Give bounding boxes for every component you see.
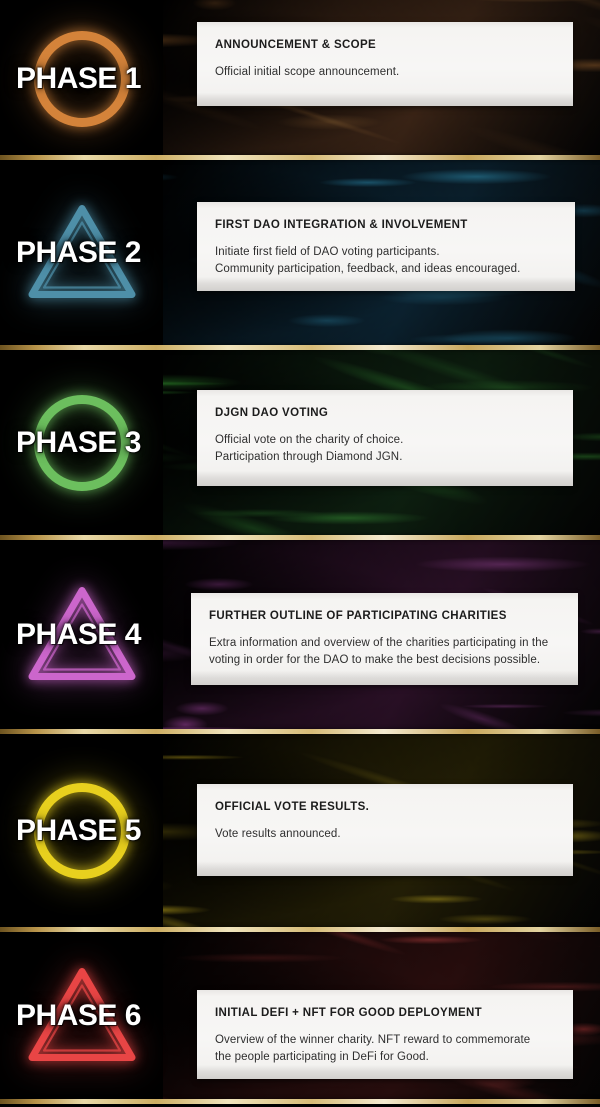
- phase-card-body: Official initial scope announcement.: [215, 64, 555, 81]
- phase-card[interactable]: INITIAL DEFI + NFT FOR GOOD DEPLOYMENTOv…: [197, 990, 573, 1079]
- phase-row[interactable]: PHASE 6INITIAL DEFI + NFT FOR GOOD DEPLO…: [0, 930, 600, 1102]
- phase-card-title: OFFICIAL VOTE RESULTS.: [215, 800, 555, 815]
- phase-card[interactable]: FIRST DAO INTEGRATION & INVOLVEMENTIniti…: [197, 202, 575, 291]
- phase-card-body: Initiate first field of DAO voting parti…: [215, 244, 557, 277]
- phase-label: PHASE 4: [16, 618, 141, 652]
- phase-card[interactable]: DJGN DAO VOTINGOfficial vote on the char…: [197, 390, 573, 486]
- phase-row[interactable]: PHASE 2FIRST DAO INTEGRATION & INVOLVEME…: [0, 158, 600, 348]
- phase-card-body-line: Community participation, feedback, and i…: [215, 261, 557, 278]
- gold-divider: [0, 345, 600, 350]
- phase-row[interactable]: PHASE 4FURTHER OUTLINE OF PARTICIPATING …: [0, 538, 600, 732]
- phase-left-panel: PHASE 4: [0, 538, 163, 732]
- gold-divider: [0, 927, 600, 932]
- gold-divider: [0, 729, 600, 734]
- phase-row[interactable]: PHASE 1ANNOUNCEMENT & SCOPEOfficial init…: [0, 0, 600, 158]
- phase-card-body-line: Extra information and overview of the ch…: [209, 635, 560, 652]
- phase-row[interactable]: PHASE 3DJGN DAO VOTINGOfficial vote on t…: [0, 348, 600, 538]
- phase-left-panel: PHASE 1: [0, 0, 163, 158]
- phase-card-body: Overview of the winner charity. NFT rewa…: [215, 1032, 555, 1065]
- gold-divider: [0, 535, 600, 540]
- phase-card-body-line: the people participating in DeFi for Goo…: [215, 1049, 555, 1066]
- phase-label: PHASE 6: [16, 999, 141, 1033]
- phase-card[interactable]: FURTHER OUTLINE OF PARTICIPATING CHARITI…: [191, 593, 578, 685]
- phase-card-body-line: Official initial scope announcement.: [215, 64, 555, 81]
- gold-divider: [0, 1099, 600, 1104]
- phase-label: PHASE 2: [16, 236, 141, 270]
- phase-card-body-line: Official vote on the charity of choice.: [215, 432, 555, 449]
- phase-card-title: INITIAL DEFI + NFT FOR GOOD DEPLOYMENT: [215, 1006, 555, 1021]
- phase-label: PHASE 5: [16, 814, 141, 848]
- phase-card-body-line: Overview of the winner charity. NFT rewa…: [215, 1032, 555, 1049]
- phase-card-body-line: Initiate first field of DAO voting parti…: [215, 244, 557, 261]
- phase-card-body-line: Vote results announced.: [215, 826, 555, 843]
- phase-left-panel: PHASE 6: [0, 930, 163, 1102]
- phase-card-title: ANNOUNCEMENT & SCOPE: [215, 38, 555, 53]
- phase-card[interactable]: ANNOUNCEMENT & SCOPEOfficial initial sco…: [197, 22, 573, 106]
- phase-card-title: FURTHER OUTLINE OF PARTICIPATING CHARITI…: [209, 609, 560, 624]
- phase-card-body-line: Participation through Diamond JGN.: [215, 449, 555, 466]
- phase-label: PHASE 1: [16, 62, 141, 96]
- phase-card-title: FIRST DAO INTEGRATION & INVOLVEMENT: [215, 218, 557, 233]
- phase-card-body: Official vote on the charity of choice.P…: [215, 432, 555, 465]
- phase-row[interactable]: PHASE 5OFFICIAL VOTE RESULTS.Vote result…: [0, 732, 600, 930]
- phase-card[interactable]: OFFICIAL VOTE RESULTS.Vote results annou…: [197, 784, 573, 876]
- roadmap-container: PHASE 1ANNOUNCEMENT & SCOPEOfficial init…: [0, 0, 600, 1107]
- phase-left-panel: PHASE 3: [0, 348, 163, 538]
- phase-label: PHASE 3: [16, 426, 141, 460]
- gold-divider: [0, 155, 600, 160]
- phase-card-title: DJGN DAO VOTING: [215, 406, 555, 421]
- phase-card-body-line: voting in order for the DAO to make the …: [209, 652, 560, 669]
- phase-card-body: Vote results announced.: [215, 826, 555, 843]
- phase-left-panel: PHASE 5: [0, 732, 163, 930]
- phase-left-panel: PHASE 2: [0, 158, 163, 348]
- phase-card-body: Extra information and overview of the ch…: [209, 635, 560, 668]
